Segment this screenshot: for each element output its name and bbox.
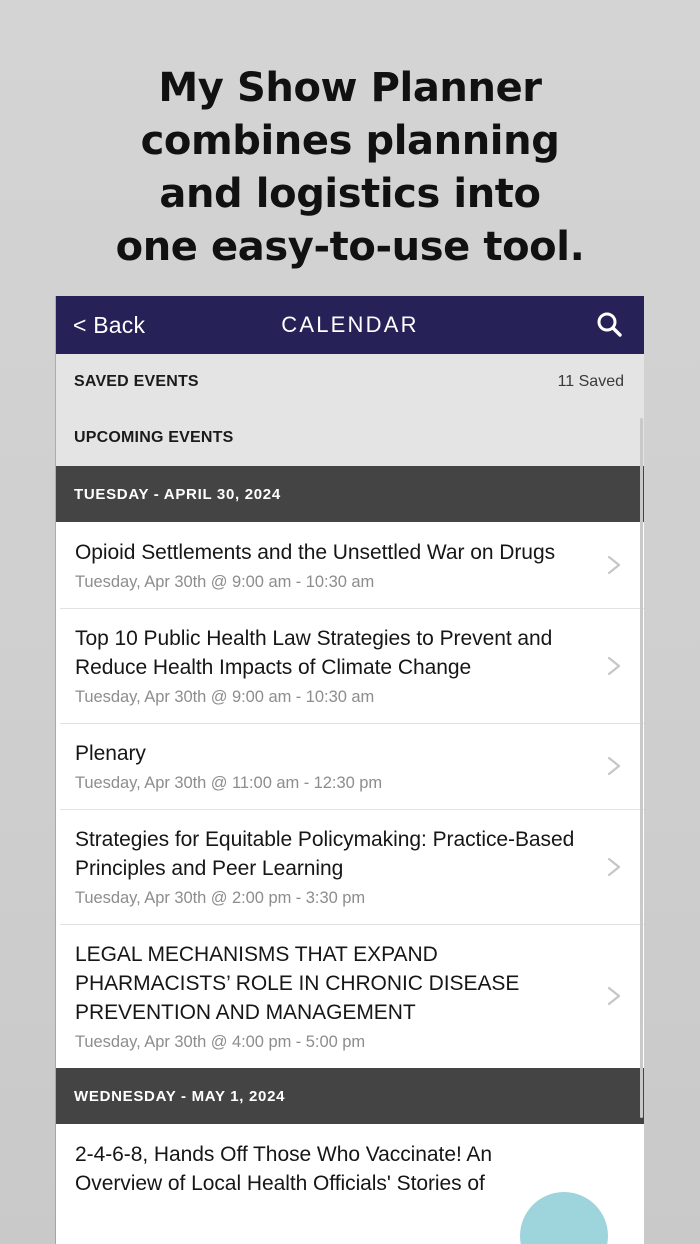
events-filter-panel: SAVED EVENTS 11 Saved UPCOMING EVENTS: [56, 354, 644, 466]
app-screenshot: < Back CALENDAR SAVED EVENTS 11 Saved UP…: [56, 296, 644, 1244]
event-title: LEGAL MECHANISMS THAT EXPAND PHARMACISTS…: [75, 940, 584, 1027]
event-time: Tuesday, Apr 30th @ 9:00 am - 10:30 am: [75, 686, 584, 708]
list-item[interactable]: Plenary Tuesday, Apr 30th @ 11:00 am - 1…: [56, 723, 644, 809]
event-time: Tuesday, Apr 30th @ 9:00 am - 10:30 am: [75, 571, 584, 593]
chevron-right-icon: [602, 550, 626, 580]
chevron-right-icon: [602, 651, 626, 681]
event-title: Strategies for Equitable Policymaking: P…: [75, 825, 584, 883]
tab-saved-events-label: SAVED EVENTS: [74, 373, 199, 391]
back-button[interactable]: < Back: [73, 312, 145, 339]
list-item[interactable]: LEGAL MECHANISMS THAT EXPAND PHARMACISTS…: [56, 924, 644, 1068]
page-title: My Show Planner combines planning and lo…: [0, 62, 700, 274]
event-title: 2-4-6-8, Hands Off Those Who Vaccinate! …: [75, 1140, 584, 1198]
event-title: Top 10 Public Health Law Strategies to P…: [75, 624, 584, 682]
page-root: My Show Planner combines planning and lo…: [0, 0, 700, 1244]
tab-saved-events[interactable]: SAVED EVENTS 11 Saved: [56, 354, 644, 410]
headline-line-1: My Show Planner: [0, 62, 700, 115]
chevron-right-icon: [602, 852, 626, 882]
event-time: Tuesday, Apr 30th @ 11:00 am - 12:30 pm: [75, 772, 584, 794]
list-item[interactable]: Top 10 Public Health Law Strategies to P…: [56, 608, 644, 723]
headline-line-3: and logistics into: [0, 168, 700, 221]
list-item[interactable]: Opioid Settlements and the Unsettled War…: [56, 522, 644, 608]
saved-count-badge: 11 Saved: [558, 373, 624, 391]
event-title: Plenary: [75, 739, 584, 768]
headline-line-4: one easy-to-use tool.: [0, 221, 700, 274]
event-time: Tuesday, Apr 30th @ 4:00 pm - 5:00 pm: [75, 1031, 584, 1053]
chevron-right-icon: [602, 981, 626, 1011]
day-header-wednesday: WEDNESDAY - MAY 1, 2024: [56, 1068, 644, 1124]
chevron-right-icon: [602, 751, 626, 781]
navigation-bar: < Back CALENDAR: [56, 296, 644, 354]
tab-upcoming-events-label: UPCOMING EVENTS: [74, 429, 233, 447]
list-item[interactable]: Strategies for Equitable Policymaking: P…: [56, 809, 644, 924]
scrollbar[interactable]: [640, 418, 643, 1118]
search-icon[interactable]: [592, 308, 626, 342]
event-time: Tuesday, Apr 30th @ 2:00 pm - 3:30 pm: [75, 887, 584, 909]
day-header-tuesday-label: TUESDAY - APRIL 30, 2024: [74, 486, 281, 503]
day-header-tuesday: TUESDAY - APRIL 30, 2024: [56, 466, 644, 522]
event-title: Opioid Settlements and the Unsettled War…: [75, 538, 584, 567]
day-header-wednesday-label: WEDNESDAY - MAY 1, 2024: [74, 1088, 285, 1105]
tab-upcoming-events[interactable]: UPCOMING EVENTS: [56, 410, 644, 466]
headline-line-2: combines planning: [0, 115, 700, 168]
